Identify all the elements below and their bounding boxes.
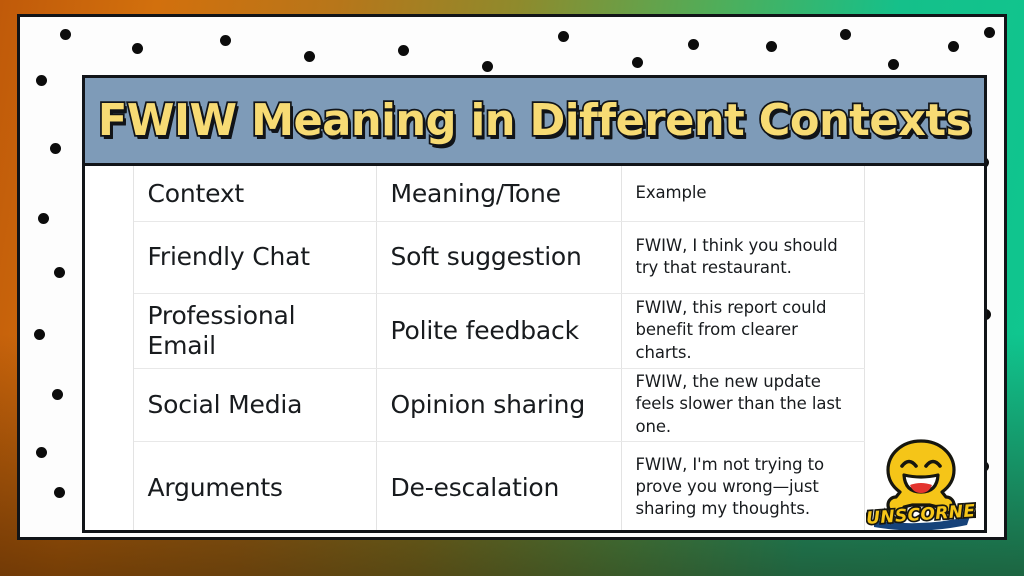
cell-example: FWIW, this report could benefit from cle…: [621, 293, 864, 368]
fwiw-context-table: Context Meaning/Tone Example Friendly Ch…: [85, 166, 984, 533]
punscorner-logo-svg: PUNSCORNER: [866, 435, 976, 531]
column-header-example: Example: [621, 166, 864, 221]
cell-context: Professional Email: [133, 293, 376, 368]
right-gutter-cell: [864, 368, 984, 441]
right-gutter-cell: [864, 293, 984, 368]
left-gutter-cell: [85, 293, 133, 368]
title-bar: FWIW Meaning in Different Contexts: [85, 78, 984, 166]
right-gutter-cell: [864, 221, 984, 293]
table-row: Friendly Chat Soft suggestion FWIW, I th…: [85, 221, 984, 293]
left-gutter-cell: [85, 368, 133, 441]
table-row: Arguments De-escalation FWIW, I'm not tr…: [85, 441, 984, 533]
table-container: Context Meaning/Tone Example Friendly Ch…: [85, 166, 984, 533]
right-gutter-cell: [864, 166, 984, 221]
cell-context: Social Media: [133, 368, 376, 441]
left-gutter-cell: [85, 441, 133, 533]
cell-meaning: Opinion sharing: [376, 368, 621, 441]
cell-meaning: Polite feedback: [376, 293, 621, 368]
column-header-context: Context: [133, 166, 376, 221]
page-title: FWIW Meaning in Different Contexts: [98, 95, 971, 146]
column-header-meaning: Meaning/Tone: [376, 166, 621, 221]
cell-meaning: Soft suggestion: [376, 221, 621, 293]
left-gutter-cell: [85, 221, 133, 293]
left-gutter-cell: [85, 166, 133, 221]
cell-context: Friendly Chat: [133, 221, 376, 293]
cell-example: FWIW, I'm not trying to prove you wrong—…: [621, 441, 864, 533]
laughing-emoji-icon: [888, 441, 954, 513]
cell-example: FWIW, the new update feels slower than t…: [621, 368, 864, 441]
cell-context: Arguments: [133, 441, 376, 533]
cell-example: FWIW, I think you should try that restau…: [621, 221, 864, 293]
table-row: Social Media Opinion sharing FWIW, the n…: [85, 368, 984, 441]
table-header-row: Context Meaning/Tone Example: [85, 166, 984, 221]
punscorner-logo: PUNSCORNER: [866, 435, 976, 531]
content-panel: FWIW Meaning in Different Contexts Conte…: [82, 75, 987, 533]
table-row: Professional Email Polite feedback FWIW,…: [85, 293, 984, 368]
polka-dot-card: FWIW Meaning in Different Contexts Conte…: [17, 14, 1007, 540]
poster-canvas: FWIW Meaning in Different Contexts Conte…: [0, 0, 1024, 576]
cell-meaning: De-escalation: [376, 441, 621, 533]
